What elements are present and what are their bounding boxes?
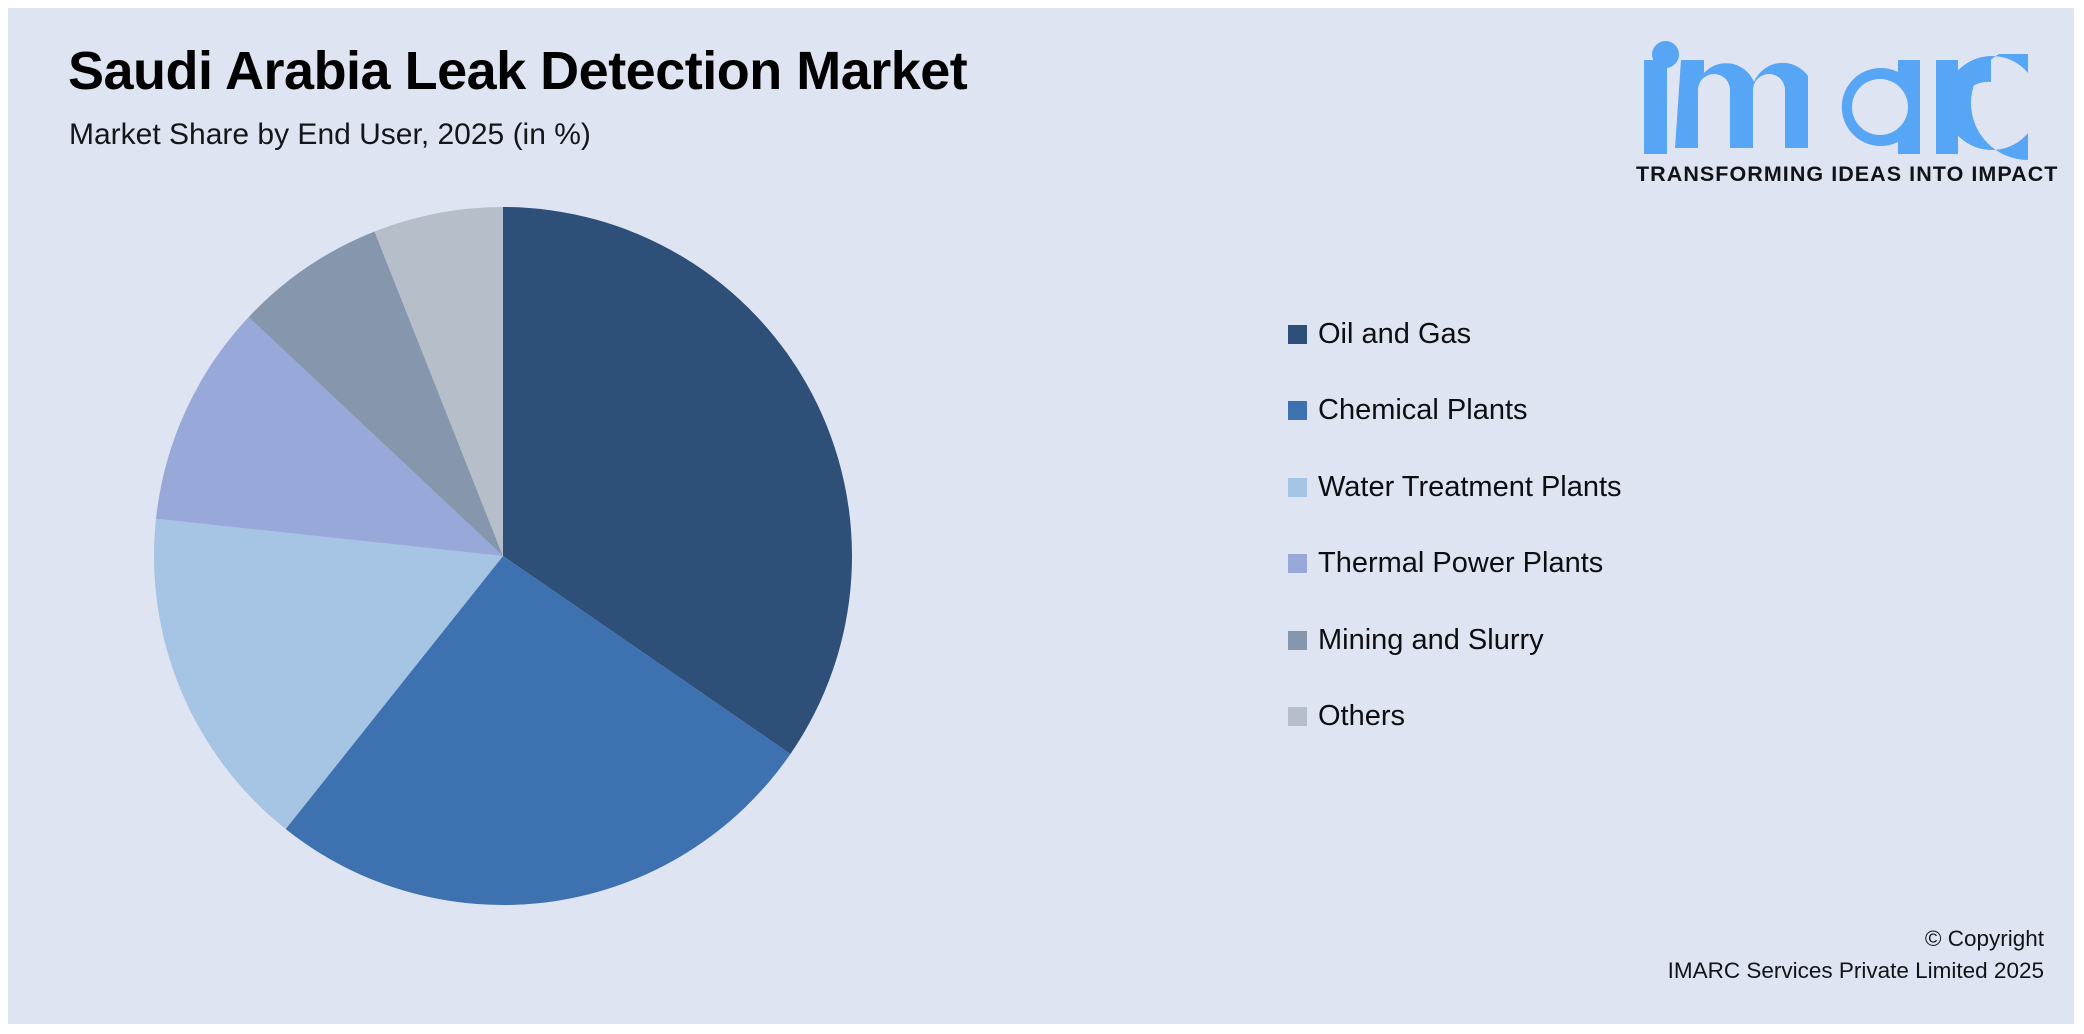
copyright-line-2: IMARC Services Private Limited 2025 — [1668, 955, 2044, 988]
legend-swatch-icon — [1288, 554, 1307, 573]
legend-item-chemical-plants[interactable]: Chemical Plants — [1288, 373, 1988, 450]
legend-swatch-icon — [1288, 401, 1307, 420]
chart-legend: Oil and Gas Chemical Plants Water Treatm… — [1288, 296, 1988, 755]
chart-header: Saudi Arabia Leak Detection Market Marke… — [8, 8, 2074, 208]
legend-item-label: Water Treatment Plants — [1318, 473, 1622, 502]
legend-item-others[interactable]: Others — [1288, 679, 1988, 756]
legend-item-label: Chemical Plants — [1318, 396, 1528, 425]
logo-wordmark-icon — [1636, 54, 2036, 160]
copyright-notice: © Copyright IMARC Services Private Limit… — [1668, 923, 2044, 988]
logo-tagline: TRANSFORMING IDEAS INTO IMPACT — [1636, 162, 2036, 187]
legend-item-oil-and-gas[interactable]: Oil and Gas — [1288, 296, 1988, 373]
legend-item-thermal-power-plants[interactable]: Thermal Power Plants — [1288, 526, 1988, 603]
chart-card: Saudi Arabia Leak Detection Market Marke… — [8, 8, 2074, 1024]
legend-swatch-icon — [1288, 707, 1307, 726]
page-title: Saudi Arabia Leak Detection Market — [68, 40, 967, 102]
pie-slice-group — [154, 207, 852, 905]
pie-chart-svg — [153, 206, 853, 906]
copyright-line-1: © Copyright — [1668, 923, 2044, 956]
legend-item-label: Thermal Power Plants — [1318, 549, 1603, 578]
legend-item-label: Oil and Gas — [1318, 320, 1471, 349]
pie-chart — [153, 206, 853, 906]
legend-item-label: Others — [1318, 702, 1405, 731]
legend-item-water-treatment-plants[interactable]: Water Treatment Plants — [1288, 449, 1988, 526]
chart-subtitle: Market Share by End User, 2025 (in %) — [69, 118, 591, 152]
legend-item-mining-and-slurry[interactable]: Mining and Slurry — [1288, 602, 1988, 679]
legend-item-label: Mining and Slurry — [1318, 626, 1544, 655]
legend-swatch-icon — [1288, 631, 1307, 650]
imarc-logo: TRANSFORMING IDEAS INTO IMPACT — [1636, 36, 2036, 196]
legend-swatch-icon — [1288, 325, 1307, 344]
legend-swatch-icon — [1288, 478, 1307, 497]
